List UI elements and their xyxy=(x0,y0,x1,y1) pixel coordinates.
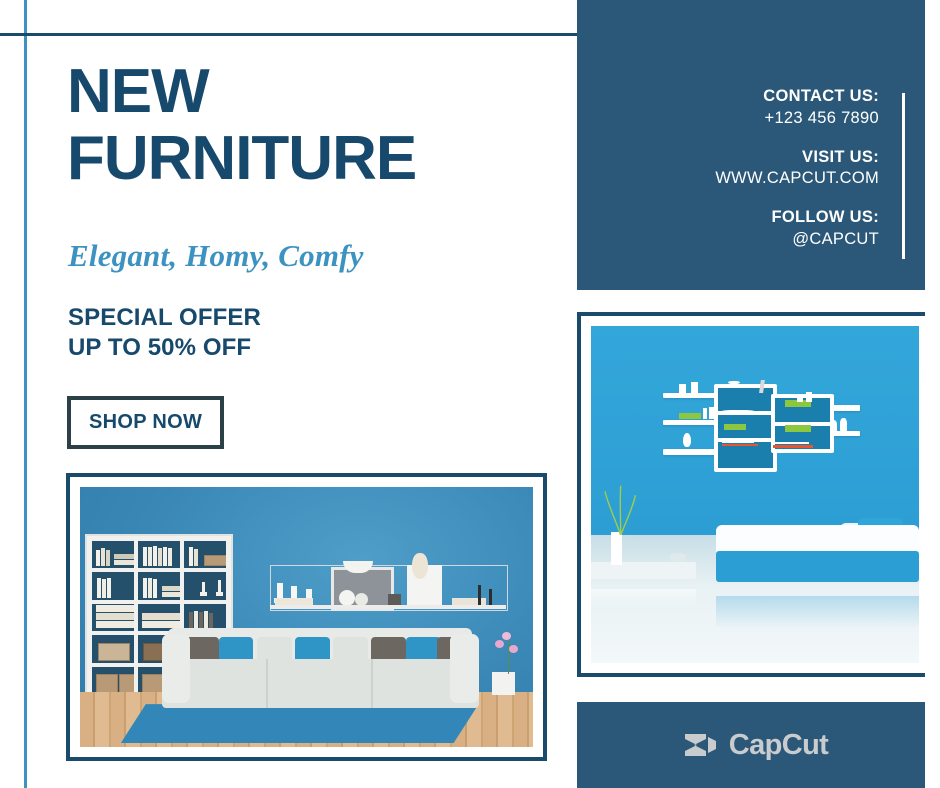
capcut-hourglass-icon xyxy=(682,730,718,760)
offer-line-2: UP TO 50% OFF xyxy=(68,333,261,363)
contact-label-social: FOLLOW US: xyxy=(619,207,879,229)
contact-value-social[interactable]: @CAPCUT xyxy=(619,229,879,251)
contact-group-phone: CONTACT US: +123 456 7890 xyxy=(619,86,879,130)
contact-panel: CONTACT US: +123 456 7890 VISIT US: WWW.… xyxy=(577,0,925,290)
bedroom-photo xyxy=(591,326,919,663)
contact-label-website: VISIT US: xyxy=(619,147,879,169)
tagline: Elegant, Homy, Comfy xyxy=(68,238,364,274)
capcut-wordmark: CapCut xyxy=(729,729,829,762)
headline-line-2: FURNITURE xyxy=(67,129,567,189)
right-page-margin xyxy=(925,0,940,788)
contact-label-phone: CONTACT US: xyxy=(619,86,879,108)
contact-group-website: VISIT US: WWW.CAPCUT.COM xyxy=(619,147,879,191)
contact-list: CONTACT US: +123 456 7890 VISIT US: WWW.… xyxy=(619,86,879,251)
contact-value-phone[interactable]: +123 456 7890 xyxy=(619,108,879,130)
special-offer: SPECIAL OFFER UP TO 50% OFF xyxy=(68,303,261,364)
branch-decor-icon xyxy=(601,478,640,535)
left-accent-rule xyxy=(24,0,27,788)
offer-line-1: SPECIAL OFFER xyxy=(68,303,261,333)
page-title: NEW FURNITURE xyxy=(67,62,567,189)
headline-line-1: NEW xyxy=(67,57,209,126)
living-room-photo xyxy=(80,487,533,747)
bedroom-photo-frame xyxy=(577,312,933,677)
contact-value-website[interactable]: WWW.CAPCUT.COM xyxy=(619,168,879,190)
contact-vertical-divider xyxy=(902,93,905,259)
living-room-photo-frame xyxy=(66,473,547,761)
contact-group-social: FOLLOW US: @CAPCUT xyxy=(619,207,879,251)
shop-now-button[interactable]: SHOP NOW xyxy=(67,396,224,449)
capcut-branding-bar: CapCut xyxy=(577,702,933,788)
poster-canvas: CONTACT US: +123 456 7890 VISIT US: WWW.… xyxy=(0,0,940,788)
